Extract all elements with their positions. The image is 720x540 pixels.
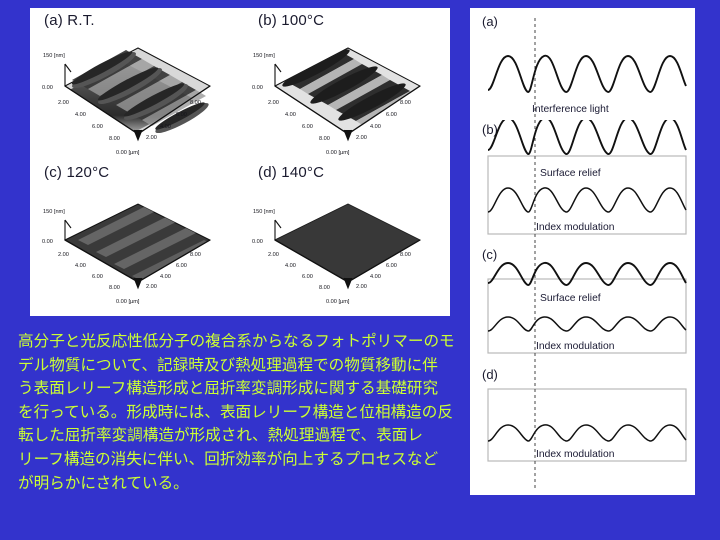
afm-b-origin: 0.00 [µm]	[326, 150, 350, 156]
schematic-b-plot: Surface relief Index modulation	[470, 120, 695, 245]
schematic-b-caption-1: Index modulation	[536, 222, 615, 233]
schematic-b-caption-0: Surface relief	[540, 168, 601, 179]
surface-relief-curve-b	[488, 120, 686, 154]
afm-d-zzero: 0.00	[252, 239, 263, 245]
afm-a-origin: 0.00 [µm]	[116, 150, 140, 156]
schematic-d: (d) Index modulation	[470, 365, 695, 490]
afm-a-xtick-1: 2.00	[58, 100, 69, 106]
afm-b-xtick-2: 4.00	[285, 112, 296, 118]
jp-line-7: が明らかにされている。	[18, 472, 466, 496]
afm-b-xtick-1: 2.00	[268, 100, 279, 106]
afm-d-xtick-4: 8.00	[319, 285, 330, 291]
afm-c-ytick-1: 8.00	[190, 252, 201, 258]
afm-a-xtick-2: 4.00	[75, 112, 86, 118]
japanese-description: 高分子と光反応性低分子の複合系からなるフォトポリマーのモ デル物質について、記録…	[18, 330, 466, 495]
jp-line-4: を行っている。形成時には、表面レリーフ構造と位相構造の反	[18, 401, 466, 425]
slide-canvas: (a) R.T.	[0, 0, 720, 540]
afm-d-ytick-4: 2.00	[356, 284, 367, 290]
afm-figure-d: (d) 140°C 150 [nm] 0.00 2.00 4.00 6.00 8…	[240, 158, 450, 312]
afm-a-xtick-4: 8.00	[109, 136, 120, 142]
afm-b-ytick-3: 4.00	[370, 124, 381, 130]
afm-c-zlabel: 150 [nm]	[43, 209, 65, 215]
afm-b-ytick-2: 6.00	[386, 112, 397, 118]
afm-plot-d: 150 [nm] 0.00 2.00 4.00 6.00 8.00 8.00 6…	[240, 158, 450, 312]
index-modulation-curve-b	[488, 188, 686, 212]
afm-c-ytick-3: 4.00	[160, 274, 171, 280]
schematic-a-plot: Interference light	[470, 12, 695, 124]
jp-line-1: 高分子と光反応性低分子の複合系からなるフォトポリマーのモ	[18, 330, 466, 354]
index-modulation-curve-d	[488, 425, 686, 441]
afm-b-zzero: 0.00	[252, 85, 263, 91]
afm-figure-a: (a) R.T.	[30, 8, 240, 162]
schematic-c-caption-0: Surface relief	[540, 293, 601, 304]
afm-a-ytick-4: 2.00	[146, 135, 157, 141]
afm-a-xtick-3: 6.00	[92, 124, 103, 130]
schematic-d-caption-0: Index modulation	[536, 449, 615, 460]
afm-b-xtick-3: 6.00	[302, 124, 313, 130]
afm-figure-panel: (a) R.T.	[30, 8, 450, 316]
afm-c-ytick-4: 2.00	[146, 284, 157, 290]
afm-d-xtick-3: 6.00	[302, 274, 313, 280]
schematic-c-caption-1: Index modulation	[536, 341, 615, 352]
afm-c-xtick-3: 6.00	[92, 274, 103, 280]
afm-d-xtick-1: 2.00	[268, 252, 279, 258]
schematic-c: (c) Surface relief Index modulation	[470, 245, 695, 365]
afm-c-origin: 0.00 [µm]	[116, 299, 140, 305]
schematic-d-plot: Index modulation	[470, 365, 695, 490]
afm-a-zlabel: 150 [nm]	[43, 53, 65, 59]
afm-c-ytick-2: 6.00	[176, 263, 187, 269]
afm-b-ytick-4: 2.00	[356, 135, 367, 141]
index-modulation-curve-c	[488, 317, 686, 331]
afm-c-xtick-1: 2.00	[58, 252, 69, 258]
afm-b-ytick-1: 8.00	[400, 100, 411, 106]
afm-plot-c: 150 [nm] 0.00 2.00 4.00 6.00 8.00 8.00 6…	[30, 158, 240, 312]
jp-line-6: リーフ構造の消失に伴い、回折効率が向上するプロセスなど	[18, 448, 466, 472]
interference-light-curve	[488, 56, 686, 92]
schematic-c-plot: Surface relief Index modulation	[470, 245, 695, 365]
schematic-a: (a) Interference light	[470, 12, 695, 124]
afm-a-ytick-3: 4.00	[160, 124, 171, 130]
schematic-a-caption-0: Interference light	[532, 104, 609, 115]
afm-c-xtick-2: 4.00	[75, 263, 86, 269]
afm-d-xtick-2: 4.00	[285, 263, 296, 269]
afm-a-zzero: 0.00	[42, 85, 53, 91]
schematic-b: (b) Surface relief Index modulation	[470, 120, 695, 245]
jp-line-3: う表面レリーフ構造形成と屈折率変調形成に関する基礎研究	[18, 377, 466, 401]
afm-plot-b: 150 [nm] 0.00 2.00 4.00 6.00 8.00 8.00 6…	[240, 8, 450, 162]
jp-line-2: デル物質について、記録時及び熱処理過程での物質移動に伴	[18, 354, 466, 378]
afm-d-ytick-2: 6.00	[386, 263, 397, 269]
afm-b-zlabel: 150 [nm]	[253, 53, 275, 59]
afm-c-zzero: 0.00	[42, 239, 53, 245]
afm-c-xtick-4: 8.00	[109, 285, 120, 291]
jp-line-5: 転した屈折率変調構造が形成され、熱処理過程で、表面レ	[18, 424, 466, 448]
afm-figure-c: (c) 120°C	[30, 158, 240, 312]
afm-d-origin: 0.00 [µm]	[326, 299, 350, 305]
afm-a-ytick-2: 6.00	[176, 112, 187, 118]
afm-a-ytick-1: 8.00	[190, 100, 201, 106]
afm-figure-b: (b) 100°C	[240, 8, 450, 162]
surface-relief-curve-c	[488, 263, 686, 285]
schematic-panel: (a) Interference light (b) Surface relie…	[470, 8, 695, 495]
afm-b-xtick-4: 8.00	[319, 136, 330, 142]
afm-d-ytick-3: 4.00	[370, 274, 381, 280]
afm-d-ytick-1: 8.00	[400, 252, 411, 258]
afm-d-zlabel: 150 [nm]	[253, 209, 275, 215]
afm-plot-a: 150 [nm] 0.00 2.00 4.00 6.00 8.00 8.00 6…	[30, 8, 240, 162]
